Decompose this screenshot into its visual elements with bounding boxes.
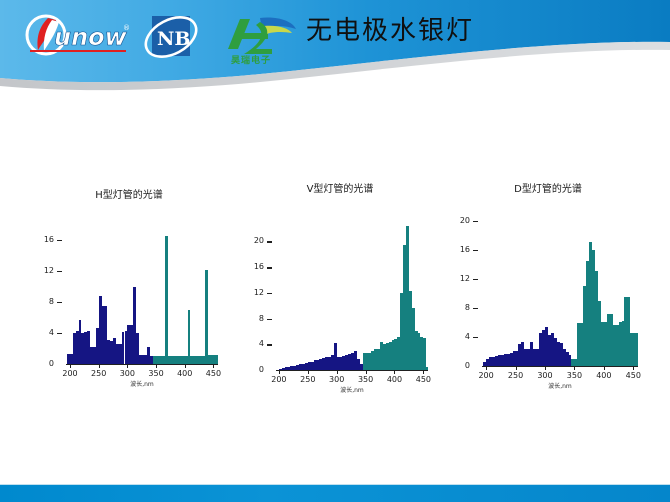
y-axis-tick bbox=[473, 250, 478, 252]
y-axis-tick-label: 0 bbox=[448, 362, 470, 370]
svg-text:NB: NB bbox=[157, 28, 190, 50]
x-axis-title: 波长,nm bbox=[276, 385, 428, 394]
x-axis-tick-label: 250 bbox=[504, 371, 528, 380]
x-axis-tick-label: 200 bbox=[267, 375, 291, 384]
x-axis-tick-label: 300 bbox=[325, 375, 349, 384]
y-axis-tick-label: 20 bbox=[448, 217, 470, 225]
y-axis-tick bbox=[473, 279, 478, 281]
x-axis-tick bbox=[486, 367, 487, 370]
chart-h-spectrum: H型灯管的光谱 2002503003504004500481216波长,nm bbox=[24, 186, 234, 401]
y-axis-tick-label: 0 bbox=[32, 360, 54, 368]
plot-area bbox=[66, 224, 218, 364]
svg-text:unow: unow bbox=[54, 23, 128, 51]
x-axis-tick-label: 450 bbox=[411, 375, 435, 384]
y-axis-tick-label: 12 bbox=[242, 289, 264, 297]
y-axis-tick bbox=[267, 241, 272, 243]
x-axis-tick bbox=[604, 367, 605, 370]
x-axis-tick-label: 400 bbox=[173, 369, 197, 378]
svg-text:昊瑞电子: 昊瑞电子 bbox=[231, 54, 271, 65]
chart-bar bbox=[423, 338, 426, 370]
y-axis-tick bbox=[473, 337, 478, 339]
x-axis-tick bbox=[366, 371, 367, 374]
chart-h-title: H型灯管的光谱 bbox=[24, 186, 234, 201]
plot-area bbox=[276, 222, 428, 370]
y-axis-tick bbox=[57, 271, 62, 273]
y-axis-tick bbox=[267, 267, 272, 269]
slide-root: unow ® NB 昊瑞电子 无电极水银灯 H型灯管的光谱 2002503003… bbox=[0, 0, 670, 502]
chart-bar bbox=[636, 333, 638, 366]
x-axis-tick bbox=[545, 367, 546, 370]
x-axis-tick bbox=[279, 371, 280, 374]
y-axis-tick-label: 20 bbox=[242, 237, 264, 245]
svg-text:®: ® bbox=[123, 24, 130, 32]
x-axis-tick-label: 450 bbox=[201, 369, 225, 378]
x-axis-tick-label: 450 bbox=[621, 371, 645, 380]
x-axis-tick-label: 400 bbox=[382, 375, 406, 384]
x-axis-tick bbox=[574, 367, 575, 370]
y-axis-tick-label: 16 bbox=[448, 246, 470, 254]
x-axis-tick-label: 400 bbox=[592, 371, 616, 380]
y-axis-tick-label: 12 bbox=[32, 267, 54, 275]
y-axis-tick-label: 4 bbox=[448, 333, 470, 341]
x-axis-tick bbox=[185, 365, 186, 368]
y-axis-tick-label: 4 bbox=[32, 329, 54, 337]
y-axis-tick-label: 8 bbox=[448, 304, 470, 312]
slide-header: unow ® NB 昊瑞电子 无电极水银灯 bbox=[0, 0, 670, 96]
chart-bar bbox=[165, 236, 168, 364]
x-axis-tick-label: 350 bbox=[354, 375, 378, 384]
x-axis-tick-label: 200 bbox=[474, 371, 498, 380]
y-axis-tick-label: 8 bbox=[242, 315, 264, 323]
x-axis-tick-label: 350 bbox=[562, 371, 586, 380]
chart-bar bbox=[216, 355, 218, 364]
y-axis-tick bbox=[57, 333, 62, 335]
x-axis-tick-label: 300 bbox=[115, 369, 139, 378]
chart-d-spectrum: D型灯管的光谱 200250300350400450048121620波长,nm bbox=[440, 180, 656, 402]
x-axis-tick bbox=[156, 365, 157, 368]
x-axis-line bbox=[276, 370, 428, 371]
unow-logo: unow ® bbox=[24, 14, 136, 60]
x-axis-tick bbox=[70, 365, 71, 368]
haorui-logo: 昊瑞电子 bbox=[222, 13, 300, 65]
chart-v-title: V型灯管的光谱 bbox=[236, 180, 444, 195]
x-axis-tick bbox=[308, 371, 309, 374]
nb-logo: NB bbox=[142, 12, 202, 64]
chart-v-spectrum: V型灯管的光谱 200250300350400450048121620波长,nm bbox=[236, 180, 444, 402]
x-axis-title: 波长,nm bbox=[482, 381, 638, 390]
y-axis-tick-label: 8 bbox=[32, 298, 54, 306]
page-title: 无电极水银灯 bbox=[306, 16, 474, 46]
chart-bar bbox=[205, 270, 208, 364]
y-axis-tick bbox=[57, 302, 62, 304]
y-axis-tick bbox=[57, 240, 62, 242]
x-axis-tick bbox=[127, 365, 128, 368]
y-axis-tick-label: 4 bbox=[242, 340, 264, 348]
x-axis-line bbox=[482, 366, 638, 367]
x-axis-tick bbox=[337, 371, 338, 374]
y-axis-tick-label: 16 bbox=[32, 236, 54, 244]
y-axis-tick bbox=[267, 344, 272, 346]
y-axis-tick bbox=[473, 308, 478, 310]
x-axis-tick bbox=[213, 365, 214, 368]
x-axis-title: 波长,nm bbox=[66, 379, 218, 388]
x-axis-tick bbox=[99, 365, 100, 368]
x-axis-line bbox=[66, 364, 218, 365]
plot-area bbox=[482, 206, 638, 366]
x-axis-tick bbox=[394, 371, 395, 374]
y-axis-tick-label: 16 bbox=[242, 263, 264, 271]
y-axis-tick bbox=[473, 221, 478, 223]
x-axis-tick-label: 200 bbox=[58, 369, 82, 378]
y-axis-tick-label: 12 bbox=[448, 275, 470, 283]
x-axis-tick-label: 250 bbox=[87, 369, 111, 378]
y-axis-tick bbox=[267, 319, 272, 321]
x-axis-tick bbox=[423, 371, 424, 374]
chart-d-title: D型灯管的光谱 bbox=[440, 180, 656, 195]
footer-band bbox=[0, 484, 670, 502]
x-axis-tick-label: 300 bbox=[533, 371, 557, 380]
x-axis-tick-label: 250 bbox=[296, 375, 320, 384]
x-axis-tick bbox=[516, 367, 517, 370]
y-axis-tick-label: 0 bbox=[242, 366, 264, 374]
y-axis-tick bbox=[267, 293, 272, 295]
x-axis-tick bbox=[633, 367, 634, 370]
x-axis-tick-label: 350 bbox=[144, 369, 168, 378]
